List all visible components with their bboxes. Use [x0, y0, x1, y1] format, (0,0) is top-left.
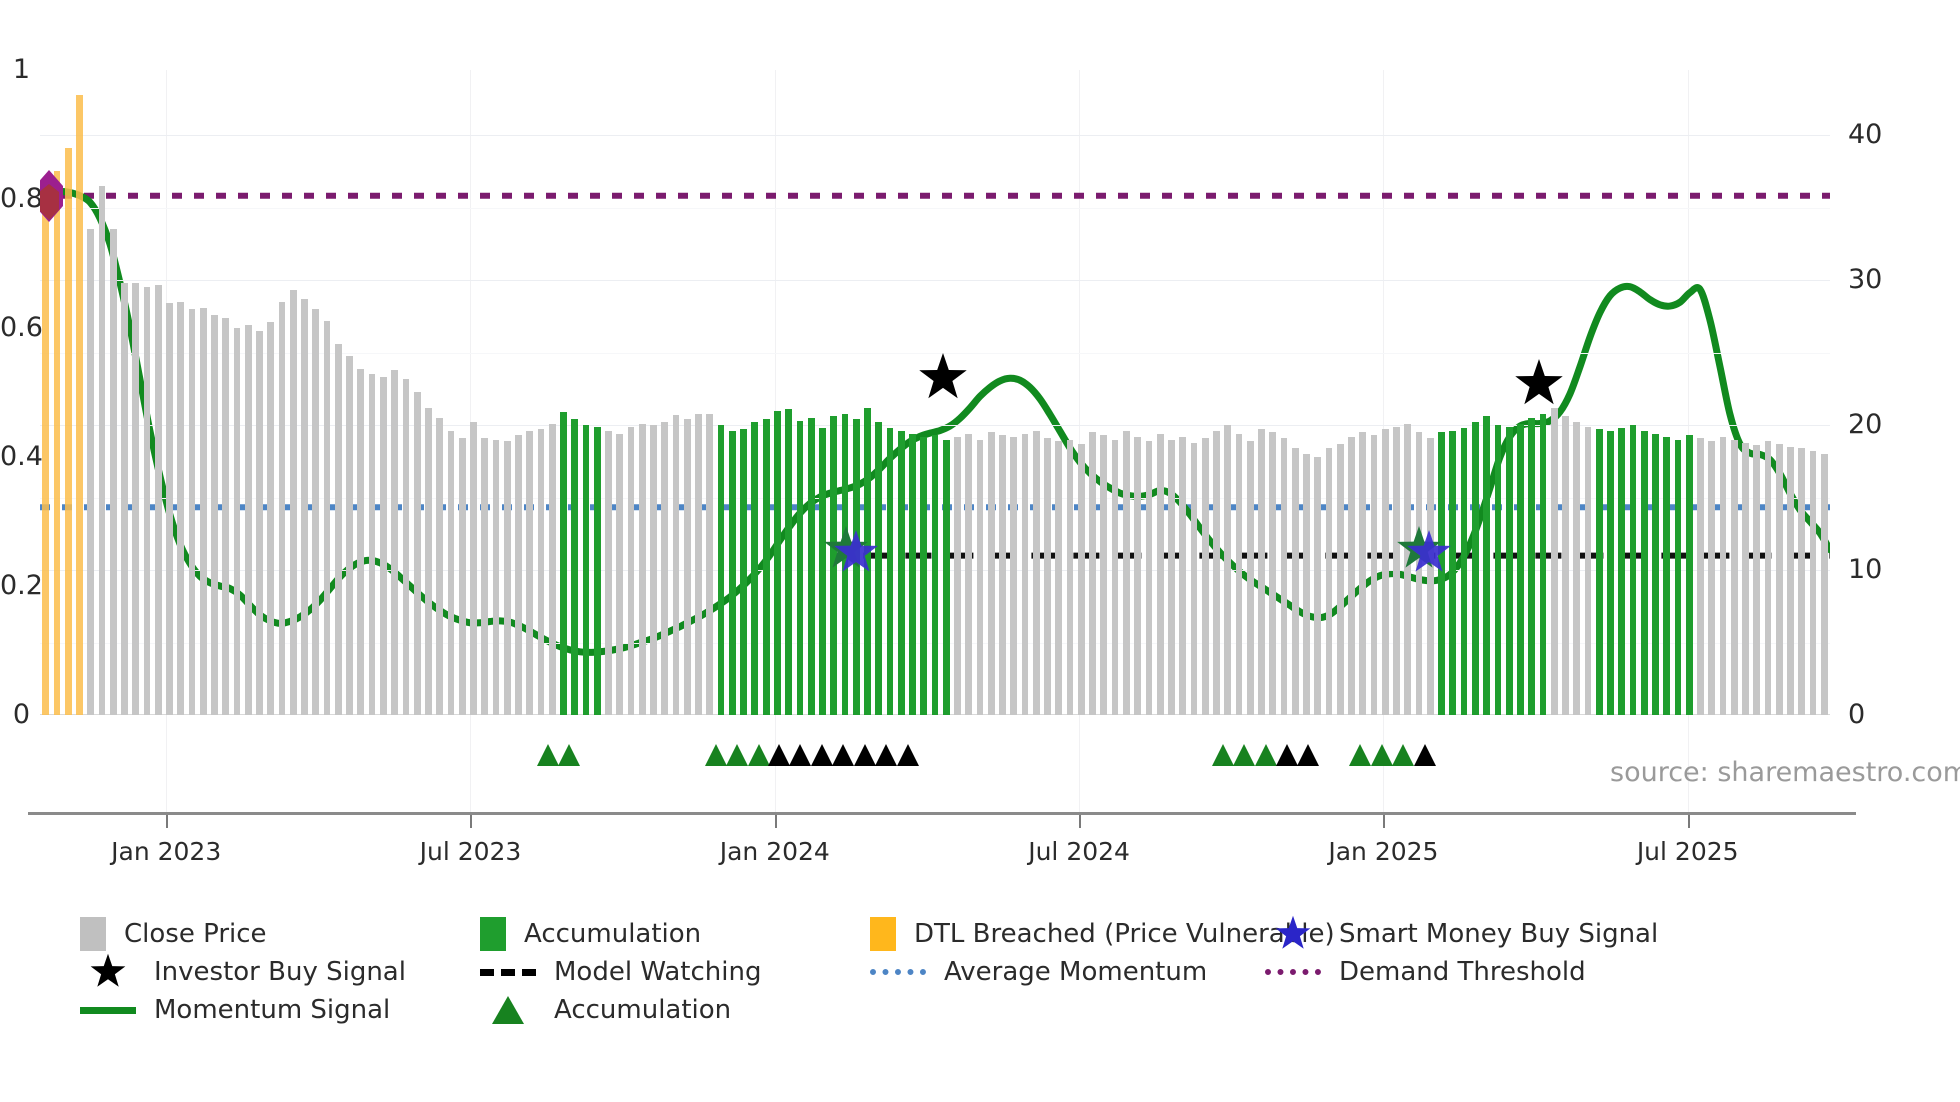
price-bar	[459, 438, 466, 715]
price-bar	[988, 432, 995, 715]
price-bar	[290, 290, 297, 715]
gridline-minor-3	[40, 208, 1830, 209]
legend-label: Smart Money Buy Signal	[1339, 919, 1658, 949]
star-icon	[1265, 915, 1321, 953]
accumulation-triangle	[1392, 744, 1414, 766]
x-tick-mark-1	[470, 815, 472, 828]
price-bar	[1821, 454, 1828, 715]
price-bar	[493, 440, 500, 715]
accumulation-triangle	[854, 744, 876, 766]
gridline-4	[40, 135, 1830, 136]
accumulation-triangle	[1212, 744, 1234, 766]
star-black-icon	[1513, 358, 1565, 410]
price-bar	[920, 437, 927, 715]
price-bar	[661, 422, 668, 715]
price-bar	[639, 424, 646, 715]
price-bar	[797, 421, 804, 715]
price-bar	[99, 186, 106, 715]
legend-item-average-momentum[interactable]: Average Momentum	[870, 953, 1207, 991]
x-tick-label-1: Jul 2023	[360, 838, 580, 865]
price-bar	[346, 356, 353, 715]
price-bar	[1697, 438, 1704, 715]
price-bar	[1303, 454, 1310, 715]
price-bar	[977, 440, 984, 715]
price-bar	[200, 308, 207, 715]
legend-swatch-dotted	[1265, 969, 1321, 975]
y-right-tick-1: 10	[1848, 556, 1882, 583]
price-bar	[594, 427, 601, 715]
y-right-tick-4: 40	[1848, 121, 1882, 148]
price-bar	[1337, 444, 1344, 715]
price-bar	[571, 419, 578, 715]
y-left-tick-2: 0.4	[0, 443, 30, 470]
price-bar	[211, 315, 218, 715]
price-bar	[1202, 438, 1209, 715]
x-tick-label-0: Jan 2023	[56, 838, 276, 865]
price-bar	[1281, 438, 1288, 715]
price-bar	[1787, 447, 1794, 715]
price-bar	[1675, 440, 1682, 715]
price-bar	[1067, 440, 1074, 715]
gridline-3	[40, 280, 1830, 281]
star-blue-icon	[1405, 529, 1453, 577]
accumulation-triangle	[1255, 744, 1277, 766]
price-bar	[785, 409, 792, 715]
legend-row-0: Close PriceAccumulationDTL Breached (Pri…	[80, 915, 1920, 953]
price-bar	[1348, 437, 1355, 715]
price-bar	[1618, 428, 1625, 715]
price-bar	[177, 302, 184, 715]
legend-item-accumulation-triangle[interactable]: Accumulation	[480, 991, 731, 1029]
price-bar	[1630, 425, 1637, 715]
price-bar	[909, 434, 916, 715]
price-bar	[1191, 443, 1198, 715]
price-bar	[1427, 438, 1434, 715]
accumulation-triangle	[1276, 744, 1298, 766]
price-bar	[448, 431, 455, 715]
legend-row-2: Momentum SignalAccumulation	[80, 991, 1920, 1029]
x-tick-label-2: Jan 2024	[665, 838, 885, 865]
price-bar	[312, 309, 319, 715]
price-bar	[267, 322, 274, 715]
price-bar	[76, 95, 83, 715]
price-bar	[695, 414, 702, 715]
accumulation-triangle	[789, 744, 811, 766]
legend-label: Momentum Signal	[154, 995, 390, 1025]
price-bar	[222, 318, 229, 715]
accumulation-triangle	[897, 744, 919, 766]
y-right-tick-0: 0	[1848, 701, 1865, 728]
price-bar	[751, 422, 758, 715]
legend-item-model-watching[interactable]: Model Watching	[480, 953, 761, 991]
legend-swatch-dotted	[870, 969, 926, 975]
price-bar	[616, 434, 623, 715]
accumulation-triangle	[768, 744, 790, 766]
legend-swatch-square-icon	[80, 917, 106, 951]
price-bar	[1089, 432, 1096, 715]
price-bar	[436, 418, 443, 715]
price-bar	[1483, 416, 1490, 715]
legend-item-investor-buy[interactable]: Investor Buy Signal	[80, 953, 406, 991]
star-black-icon	[917, 352, 969, 404]
price-bar	[87, 229, 94, 715]
price-bar	[1371, 435, 1378, 715]
price-bar	[1022, 434, 1029, 715]
price-bar	[1010, 437, 1017, 715]
accumulation-triangle	[1297, 744, 1319, 766]
star-blue-icon	[832, 529, 880, 577]
accumulation-triangle	[537, 744, 559, 766]
price-bar	[335, 344, 342, 715]
price-bar	[605, 431, 612, 715]
price-bar	[425, 408, 432, 715]
price-bar	[1596, 429, 1603, 715]
accumulation-triangle	[558, 744, 580, 766]
price-bar	[279, 302, 286, 715]
price-bar	[1562, 416, 1569, 715]
price-bar	[1213, 431, 1220, 715]
price-bar	[1134, 437, 1141, 715]
price-bar	[1663, 437, 1670, 715]
price-bar	[1641, 431, 1648, 715]
price-bar	[538, 429, 545, 715]
star-icon	[80, 953, 136, 991]
price-bar	[1269, 432, 1276, 715]
legend-label: Accumulation	[554, 995, 731, 1025]
price-bar	[729, 431, 736, 715]
price-bar	[932, 435, 939, 715]
price-bar	[1461, 428, 1468, 715]
price-bar	[504, 441, 511, 715]
y-left-tick-5: 1	[0, 56, 30, 83]
accumulation-triangle	[811, 744, 833, 766]
price-bar	[1236, 434, 1243, 715]
price-bar	[673, 415, 680, 715]
price-bar	[1472, 422, 1479, 715]
price-bar	[54, 171, 61, 715]
price-bar	[1528, 418, 1535, 715]
accumulation-triangle	[832, 744, 854, 766]
price-bar	[628, 427, 635, 715]
price-bar	[1607, 431, 1614, 715]
legend-item-close-price[interactable]: Close Price	[80, 915, 267, 953]
legend-item-demand-threshold[interactable]: Demand Threshold	[1265, 953, 1586, 991]
price-bar	[943, 440, 950, 715]
price-bar	[1720, 437, 1727, 715]
accumulation-triangle	[1371, 744, 1393, 766]
price-bar	[1573, 422, 1580, 715]
price-bar	[481, 438, 488, 715]
legend-swatch-line	[80, 1007, 136, 1014]
x-tick-mark-5	[1688, 815, 1690, 828]
price-bar	[189, 309, 196, 715]
price-bar	[1100, 435, 1107, 715]
price-bar	[155, 285, 162, 715]
price-bar	[1686, 435, 1693, 715]
price-bar	[583, 425, 590, 715]
y-right-tick-3: 30	[1848, 266, 1882, 293]
plot-area	[40, 70, 1830, 715]
price-bar	[234, 328, 241, 715]
price-bar	[1078, 444, 1085, 715]
price-bar	[1517, 424, 1524, 715]
price-bar	[898, 431, 905, 715]
price-bar	[357, 369, 364, 715]
legend-label: Close Price	[124, 919, 267, 949]
y-left-tick-4: 0.8	[0, 185, 30, 212]
price-bar	[526, 431, 533, 715]
price-bar	[1585, 427, 1592, 715]
price-bar	[42, 186, 49, 715]
triangle-icon	[480, 995, 536, 1025]
x-tick-mark-2	[775, 815, 777, 828]
price-bar	[1179, 437, 1186, 715]
price-bar	[391, 370, 398, 715]
diamond-marker-icon	[40, 170, 63, 222]
legend-item-accumulation-bar[interactable]: Accumulation	[480, 915, 701, 953]
price-bar	[1742, 443, 1749, 715]
price-bar	[245, 325, 252, 715]
price-bar	[403, 379, 410, 715]
legend-swatch-square-icon	[480, 917, 506, 951]
y-left-tick-3: 0.6	[0, 314, 30, 341]
price-bar	[887, 428, 894, 715]
x-tick-label-4: Jan 2025	[1273, 838, 1493, 865]
price-bar	[1765, 441, 1772, 715]
price-bar	[324, 321, 331, 715]
legend-label: Average Momentum	[944, 957, 1207, 987]
legend-row-1: Investor Buy SignalModel WatchingAverage…	[80, 953, 1920, 991]
price-bar	[301, 299, 308, 715]
x-tick-label-5: Jul 2025	[1578, 838, 1798, 865]
y-left-tick-1: 0.2	[0, 572, 30, 599]
price-bar	[1810, 451, 1817, 715]
legend-label: Investor Buy Signal	[154, 957, 406, 987]
price-bar	[718, 425, 725, 715]
price-bar	[650, 425, 657, 715]
price-bar	[1540, 414, 1547, 715]
legend: Close PriceAccumulationDTL Breached (Pri…	[80, 915, 1920, 1029]
price-bar	[965, 434, 972, 715]
x-axis-line	[28, 812, 1856, 815]
price-bar	[369, 374, 376, 715]
x-tick-mark-3	[1079, 815, 1081, 828]
accumulation-triangle	[705, 744, 727, 766]
price-bar	[1731, 440, 1738, 715]
price-bar	[1551, 408, 1558, 715]
y-left-tick-0: 0	[0, 701, 30, 728]
accumulation-triangle	[875, 744, 897, 766]
price-bar	[706, 414, 713, 715]
price-bar	[1157, 434, 1164, 715]
price-bar	[684, 419, 691, 715]
price-bar	[560, 412, 567, 715]
price-bar	[1247, 441, 1254, 715]
price-bar	[1168, 440, 1175, 715]
price-bar	[1123, 431, 1130, 715]
price-bar	[1112, 440, 1119, 715]
price-bar	[1495, 425, 1502, 715]
price-bar	[414, 392, 421, 715]
price-bar	[65, 148, 72, 715]
accumulation-triangle	[1233, 744, 1255, 766]
price-bar	[470, 422, 477, 715]
price-bar	[549, 424, 556, 715]
price-bar	[1314, 457, 1321, 715]
x-tick-mark-0	[166, 815, 168, 828]
price-bar	[1033, 431, 1040, 715]
price-bar	[1224, 425, 1231, 715]
price-bar	[132, 283, 139, 715]
price-bar	[1708, 441, 1715, 715]
price-bar	[954, 437, 961, 715]
price-bar	[1652, 434, 1659, 715]
price-bar	[515, 435, 522, 715]
accumulation-triangle	[1349, 744, 1371, 766]
price-bar	[1776, 444, 1783, 715]
legend-swatch-dashed	[480, 969, 536, 976]
price-bar	[1506, 427, 1513, 715]
source-note: source: sharemaestro.com	[1610, 757, 1960, 788]
price-bar	[1258, 429, 1265, 715]
legend-label: Model Watching	[554, 957, 761, 987]
legend-swatch-square-icon	[870, 917, 896, 951]
price-bar	[774, 411, 781, 715]
legend-label: Demand Threshold	[1339, 957, 1586, 987]
price-bar	[1798, 448, 1805, 715]
price-bar	[121, 283, 128, 715]
price-bar	[763, 419, 770, 715]
price-bar	[1292, 448, 1299, 715]
price-bar	[1359, 432, 1366, 715]
legend-item-momentum-signal[interactable]: Momentum Signal	[80, 991, 390, 1029]
chart-canvas: 00.20.40.60.81 010203040 Jan 2023Jul 202…	[0, 0, 1960, 1102]
price-bar	[1055, 441, 1062, 715]
price-bar	[1382, 429, 1389, 715]
price-bar	[740, 429, 747, 715]
price-bar	[1753, 445, 1760, 715]
price-bar	[1044, 438, 1051, 715]
legend-label: Accumulation	[524, 919, 701, 949]
price-bar	[144, 287, 151, 715]
accumulation-triangle	[1414, 744, 1436, 766]
price-bar	[999, 435, 1006, 715]
price-bar	[1146, 441, 1153, 715]
x-tick-label-3: Jul 2024	[969, 838, 1189, 865]
price-bar	[166, 303, 173, 715]
legend-item-smart-money-buy[interactable]: Smart Money Buy Signal	[1265, 915, 1658, 953]
price-bar	[256, 331, 263, 715]
price-bar	[380, 377, 387, 715]
accumulation-triangle	[726, 744, 748, 766]
price-bar	[110, 229, 117, 715]
y-right-tick-2: 20	[1848, 411, 1882, 438]
x-tick-mark-4	[1383, 815, 1385, 828]
price-bar	[808, 418, 815, 715]
price-bar	[1326, 448, 1333, 715]
